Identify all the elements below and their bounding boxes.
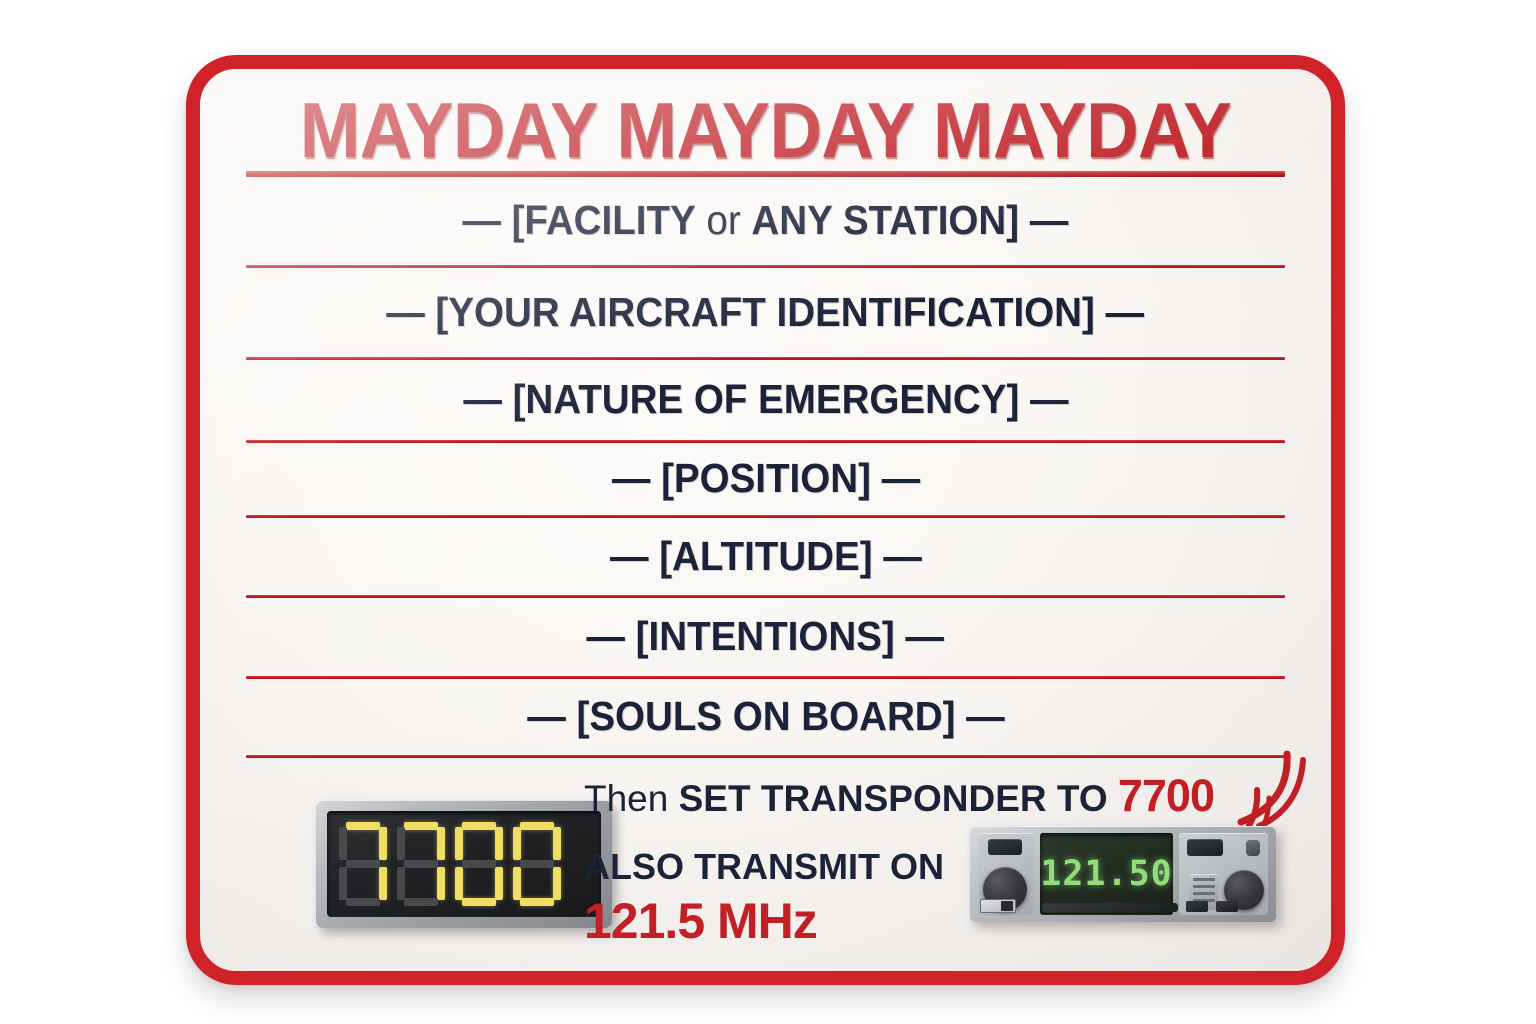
transponder-screen (327, 811, 601, 917)
divider-7 (246, 755, 1285, 758)
set-transponder-emphasis: SET TRANSPONDER TO (679, 778, 1108, 819)
then-word: Then (584, 778, 668, 819)
call-item-nature-of-emergency-label: — [NATURE OF EMERGENCY] — (463, 376, 1068, 423)
transponder-digit-1 (337, 820, 389, 908)
com-radio-button-right (1187, 839, 1223, 856)
call-item-facility-mid: or (707, 197, 741, 243)
call-item-intentions: — [INTENTIONS] — (246, 598, 1285, 676)
set-transponder-line: Then SET TRANSPONDER TO 7700 (584, 770, 1224, 822)
transponder-display-icon (316, 800, 612, 928)
com-radio-toggle-switch (980, 899, 1016, 913)
com-radio-footbutton-1 (1186, 901, 1208, 912)
call-item-aircraft-identification-label: — [YOUR AIRCRAFT IDENTIFICATION] — (387, 289, 1145, 336)
call-item-altitude-label: — [ALTITUDE] — (610, 533, 922, 580)
call-item-position: — [POSITION] — (246, 443, 1285, 515)
call-item-nature-of-emergency: — [NATURE OF EMERGENCY] — (246, 360, 1285, 440)
page-title: MAYDAY MAYDAY MAYDAY (282, 69, 1248, 171)
call-item-facility-post: ANY STATION] — (752, 197, 1069, 243)
com-radio-indicator (1246, 840, 1260, 856)
call-item-facility-pre: — [FACILITY (463, 197, 696, 243)
radio-wave-icon (1231, 746, 1309, 832)
call-item-intentions-label: — [INTENTIONS] — (587, 613, 945, 660)
squawk-code-7700: 7700 (1118, 770, 1214, 821)
call-item-aircraft-identification: — [YOUR AIRCRAFT IDENTIFICATION] — (246, 268, 1285, 357)
com-radio-button-left (988, 839, 1022, 855)
com-radio-slot (1042, 903, 1178, 912)
call-item-position-label: — [POSITION] — (611, 455, 919, 502)
transponder-digit-4 (511, 820, 563, 908)
call-item-altitude: — [ALTITUDE] — (246, 518, 1285, 595)
call-item-souls-on-board-label: — [SOULS ON BOARD] — (527, 693, 1004, 740)
com-radio-frequency-display: 121.50 (1040, 854, 1172, 894)
com-radio-icon: 121.50 (970, 826, 1276, 922)
call-item-facility: — [FACILITY or ANY STATION] — (246, 177, 1285, 265)
call-item-souls-on-board: — [SOULS ON BOARD] — (246, 679, 1285, 755)
transponder-digit-2 (395, 820, 447, 908)
transponder-digit-3 (453, 820, 505, 908)
com-radio-footbutton-2 (1216, 901, 1238, 912)
bottom-panel: Then SET TRANSPONDER TO 7700 ALSO TRANSM… (246, 760, 1285, 978)
mayday-placard: MAYDAY MAYDAY MAYDAY — [FACILITY or ANY … (186, 55, 1345, 985)
screenshot-canvas: MAYDAY MAYDAY MAYDAY — [FACILITY or ANY … (0, 0, 1536, 1024)
